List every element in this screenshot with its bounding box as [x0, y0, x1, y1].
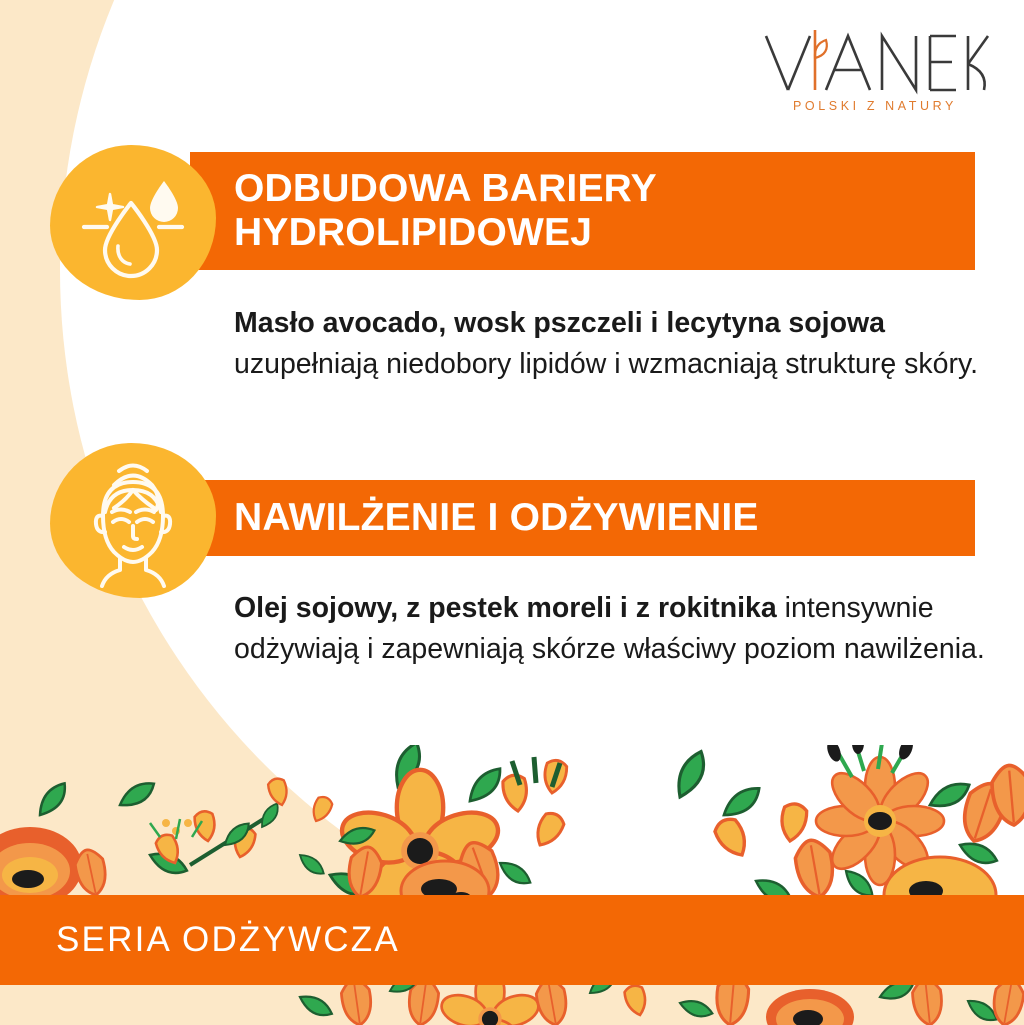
- series-banner: SERIA ODŻYWCZA: [0, 895, 1024, 985]
- logo-leaf-accent: [815, 30, 827, 90]
- floral-border-bottom: [0, 983, 1024, 1025]
- series-label: SERIA ODŻYWCZA: [0, 920, 400, 960]
- feature-2-body-text: Olej sojowy, z pestek moreli i z rokitni…: [234, 588, 1004, 670]
- water-drop-icon: [74, 167, 192, 279]
- logo-wordmark-icon: [760, 28, 990, 96]
- floral-cluster-center: [326, 745, 568, 897]
- logo-tagline: POLSKI Z NATURY: [760, 99, 990, 113]
- feature-1-heading-line-1: ODBUDOWA BARIERY: [234, 167, 657, 210]
- feature-1-heading-banner: ODBUDOWA BARIERY HYDROLIPIDOWEJ: [190, 152, 975, 270]
- feature-1-icon-badge: [50, 145, 216, 300]
- woman-face-icon: [76, 454, 190, 588]
- feature-2-icon-badge: [50, 443, 216, 598]
- feature-1-body-rest: uzupełniają niedobory lipidów i wzmacnia…: [234, 348, 978, 380]
- feature-2-heading-banner: NAWILŻENIE I ODŻYWIENIE: [190, 480, 975, 556]
- floral-cluster-right: [672, 745, 1024, 897]
- floral-cluster-left: [0, 777, 334, 897]
- feature-1-body-bold: Masło avocado, wosk pszczeli i lecytyna …: [234, 307, 885, 339]
- poster-canvas: POLSKI Z NATURY ODBUDOWA BARIERY HYDROLI…: [0, 0, 1024, 1024]
- brand-logo: POLSKI Z NATURY: [760, 28, 990, 113]
- feature-1-body-text: Masło avocado, wosk pszczeli i lecytyna …: [234, 303, 994, 385]
- floral-border-top: [0, 745, 1024, 897]
- feature-1-heading-line-2: HYDROLIPIDOWEJ: [234, 211, 592, 254]
- feature-2-body-bold: Olej sojowy, z pestek moreli i z rokitni…: [234, 592, 777, 624]
- feature-2-heading-line-1: NAWILŻENIE I ODŻYWIENIE: [234, 496, 759, 539]
